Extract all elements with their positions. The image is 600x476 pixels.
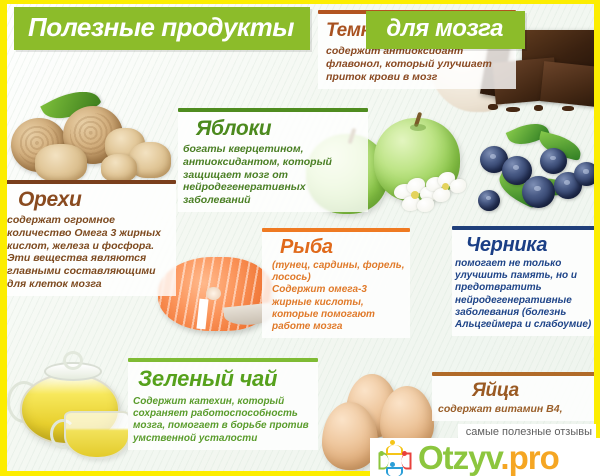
section-blueberries: Черника помогает не только улучшить памя…: [452, 226, 598, 336]
brand-first: Otzyv: [418, 439, 500, 476]
heading-eggs: Яйца: [472, 381, 598, 400]
body-eggs: содержат витамин В4,: [438, 403, 598, 416]
accent-bar-green-tea: [128, 358, 318, 362]
walnuts-photo: [5, 92, 180, 187]
accent-bar-nuts: [4, 180, 176, 184]
accent-bar-apples: [178, 108, 368, 112]
body-green-tea: Содержит катехин, который сохраняет рабо…: [133, 396, 317, 445]
poster-title: Полезные продукты для мозга: [14, 6, 525, 50]
body-blueberries: помогает не только улучшить память, но и…: [455, 258, 597, 331]
section-eggs: Яйца содержат витамин В4,: [432, 372, 598, 421]
heading-green-tea: Зеленый чай: [138, 368, 318, 390]
title-line-2: для мозга: [366, 11, 525, 49]
blueberries-photo: [478, 118, 600, 230]
section-green-tea: Зеленый чай Содержит катехин, который со…: [128, 358, 318, 450]
heading-apples: Яблоки: [196, 118, 368, 139]
heading-blueberries: Черника: [466, 235, 598, 255]
brand-dot: .: [500, 439, 508, 476]
heading-nuts: Орехи: [18, 189, 176, 210]
section-nuts: Орехи содержат огромное количество Омега…: [4, 180, 176, 296]
heading-fish: Рыба: [280, 237, 410, 257]
watermark-brand: Otzyv.pro: [418, 438, 559, 476]
body-fish-species: (тунец, сардины, форель, лосось): [272, 260, 406, 284]
watermark: самые полезные отзывы Otzyv.pro: [370, 424, 600, 476]
brand-second: pro: [509, 439, 559, 476]
section-fish: Рыба (тунец, сардины, форель, лосось) Со…: [262, 228, 410, 338]
accent-bar-blueberries: [452, 226, 598, 230]
accent-bar-eggs: [432, 372, 598, 376]
title-line-1: Полезные продукты: [14, 7, 310, 50]
body-fish: Содержит омега-3 жирные кислоты, которые…: [272, 284, 406, 333]
accent-bar-fish: [262, 228, 410, 232]
green-tea-photo: [6, 345, 138, 471]
section-apples: Яблоки богаты кверцетином, антиоксиданто…: [178, 108, 368, 212]
otzyv-logo-icon: [374, 440, 416, 476]
infographic-poster: Полезные продукты для мозга Темный шокол…: [0, 0, 600, 476]
body-dark-chocolate: содержит антиоксидант флавонол, который …: [326, 45, 508, 83]
body-nuts: содержат огромное количество Омега 3 жир…: [7, 214, 175, 291]
frame-top: [0, 0, 600, 4]
body-apples: богаты кверцетином, антиоксидантом, кото…: [183, 143, 361, 207]
